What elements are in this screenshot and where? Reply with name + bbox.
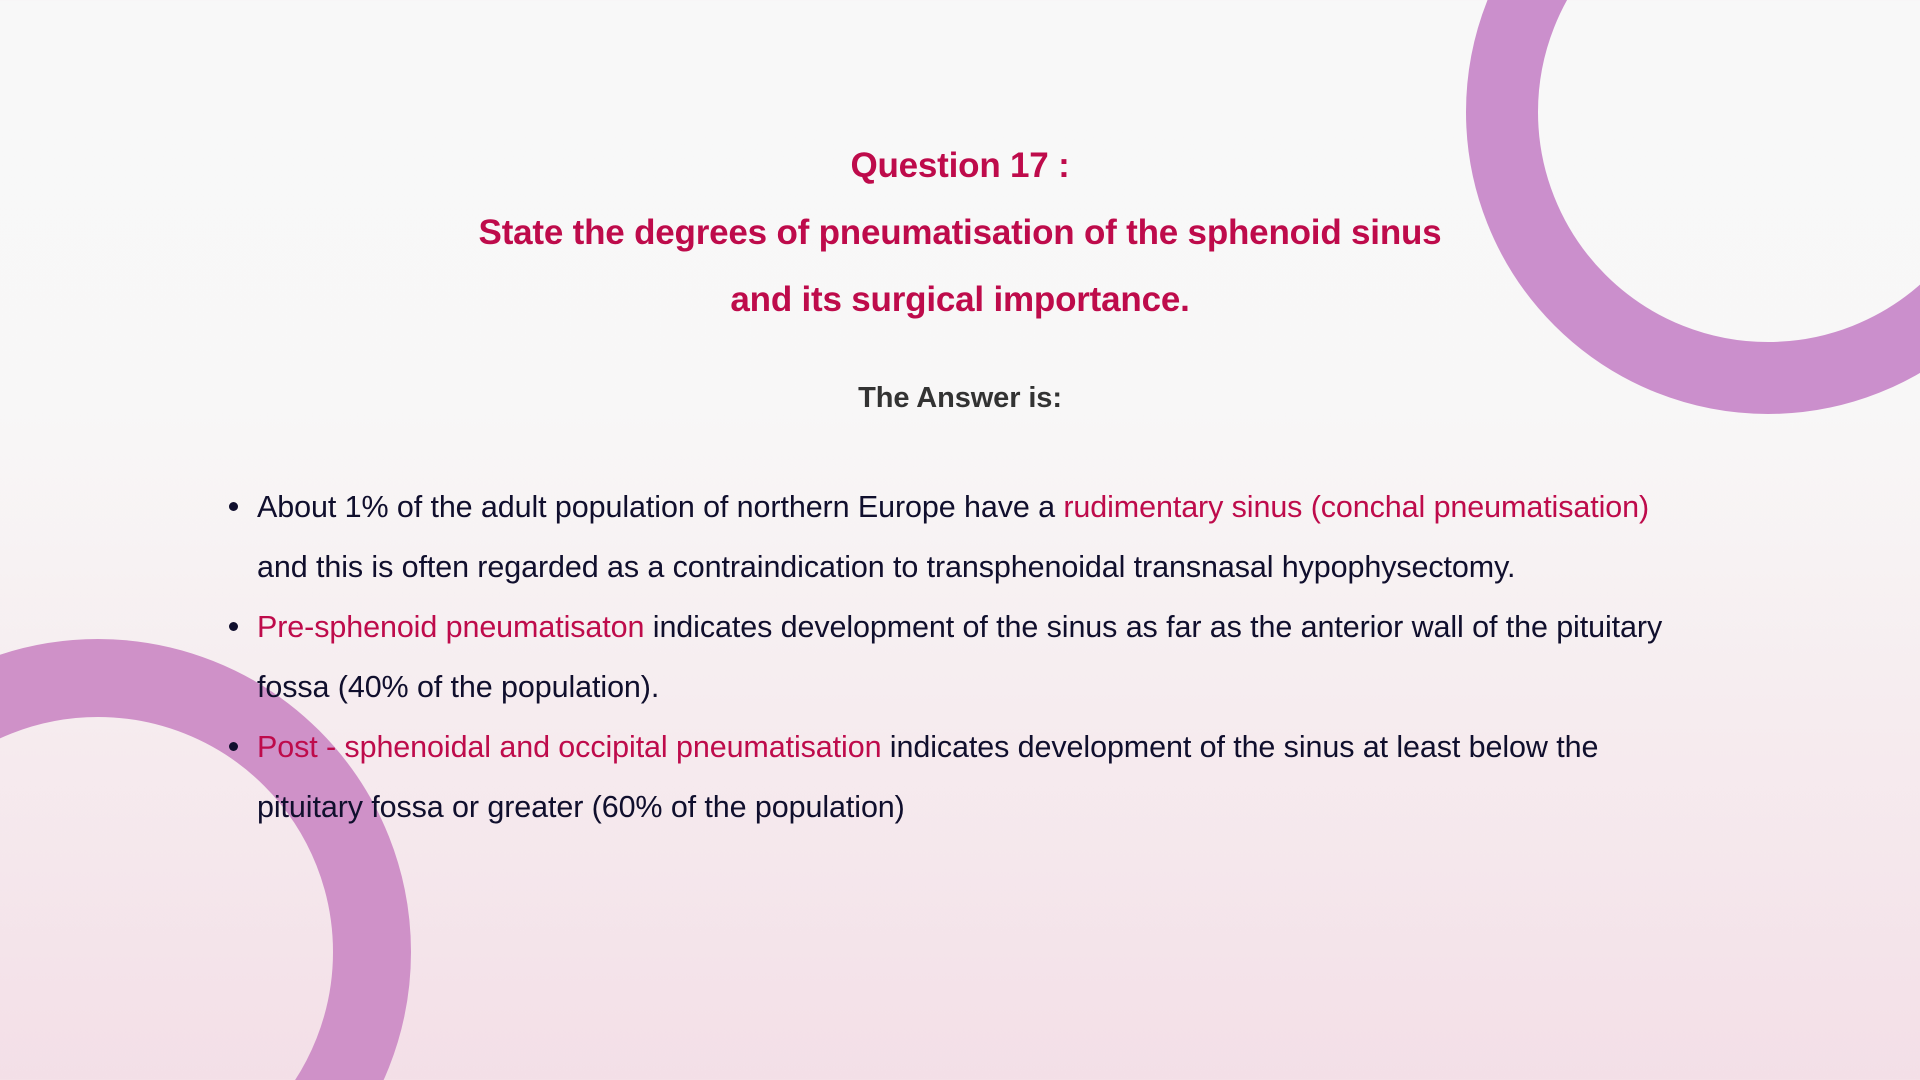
answer-bullet-list: About 1% of the adult population of nort… (215, 477, 1705, 837)
highlighted-term: rudimentary sinus (conchal pneumatisatio… (1063, 490, 1649, 524)
body-text: and this is often regarded as a contrain… (257, 550, 1515, 584)
answer-label: The Answer is: (0, 382, 1920, 415)
question-heading: Question 17 : State the degrees of pneum… (0, 0, 1920, 333)
list-item: Post - sphenoidal and occipital pneumati… (215, 717, 1705, 837)
bullet-dot-icon (229, 622, 238, 631)
list-item: Pre-sphenoid pneumatisaton indicates dev… (215, 597, 1705, 717)
list-item: About 1% of the adult population of nort… (215, 477, 1705, 597)
highlighted-term: Post - sphenoidal and occipital pneumati… (257, 730, 881, 764)
slide-canvas: Question 17 : State the degrees of pneum… (0, 0, 1920, 1080)
question-text-line-2: and its surgical importance. (0, 266, 1920, 333)
question-number: Question 17 : (0, 132, 1920, 199)
bullet-dot-icon (229, 742, 238, 751)
bullet-dot-icon (229, 502, 238, 511)
body-text: About 1% of the adult population of nort… (257, 490, 1063, 524)
highlighted-term: Pre-sphenoid pneumatisaton (257, 610, 644, 644)
question-text-line-1: State the degrees of pneumatisation of t… (0, 199, 1920, 266)
